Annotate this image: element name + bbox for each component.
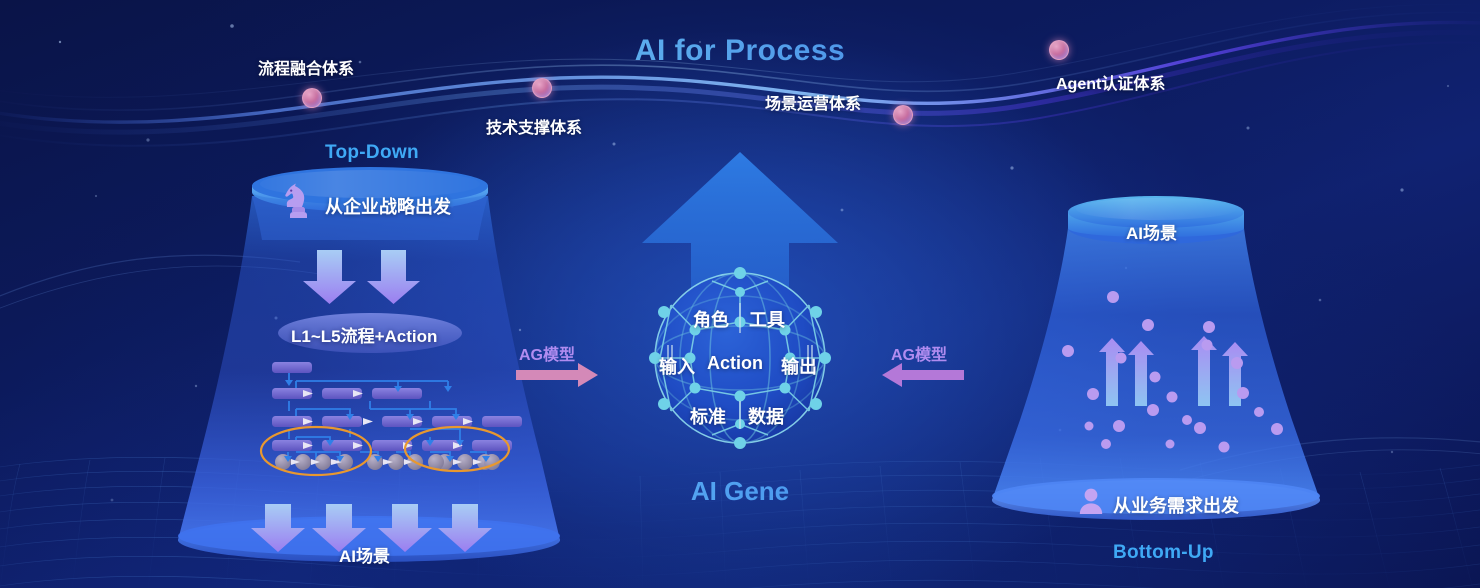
left-funnel-top-text: 从企业战略出发 xyxy=(325,193,451,219)
chess-knight-icon xyxy=(281,182,311,220)
ag-model-label-right: AG模型 xyxy=(891,341,947,365)
right-funnel-bottom-text: 从业务需求出发 xyxy=(1113,492,1239,518)
left-funnel-bottom-text: AI场景 xyxy=(339,542,390,567)
infographic-canvas: AI for Process 流程融合体系 技术支撑体系 场景运营体系 Agen… xyxy=(0,0,1480,588)
right-funnel-shape xyxy=(992,196,1320,520)
sphere-cell-output: 输出 xyxy=(781,353,817,379)
person-icon xyxy=(1078,487,1104,515)
ag-arrow-left xyxy=(516,363,598,387)
right-funnel-corner-label: Bottom-Up xyxy=(1113,542,1214,564)
sphere-cell-tool: 工具 xyxy=(749,306,785,332)
ag-arrow-right xyxy=(882,363,964,387)
ai-gene-label: AI Gene xyxy=(0,476,1480,507)
sphere-cell-data: 数据 xyxy=(748,403,784,429)
right-funnel-top-text: AI场景 xyxy=(1126,219,1177,244)
sphere-cell-action: Action xyxy=(707,353,763,374)
sphere-cell-role: 角色 xyxy=(693,306,729,332)
left-funnel-band-text: L1~L5流程+Action xyxy=(291,322,437,347)
left-funnel-corner-label: Top-Down xyxy=(325,142,419,164)
sphere-cell-input: 输入 xyxy=(659,353,695,379)
sphere-cell-standard: 标准 xyxy=(690,403,726,429)
ag-model-label-left: AG模型 xyxy=(519,341,575,365)
